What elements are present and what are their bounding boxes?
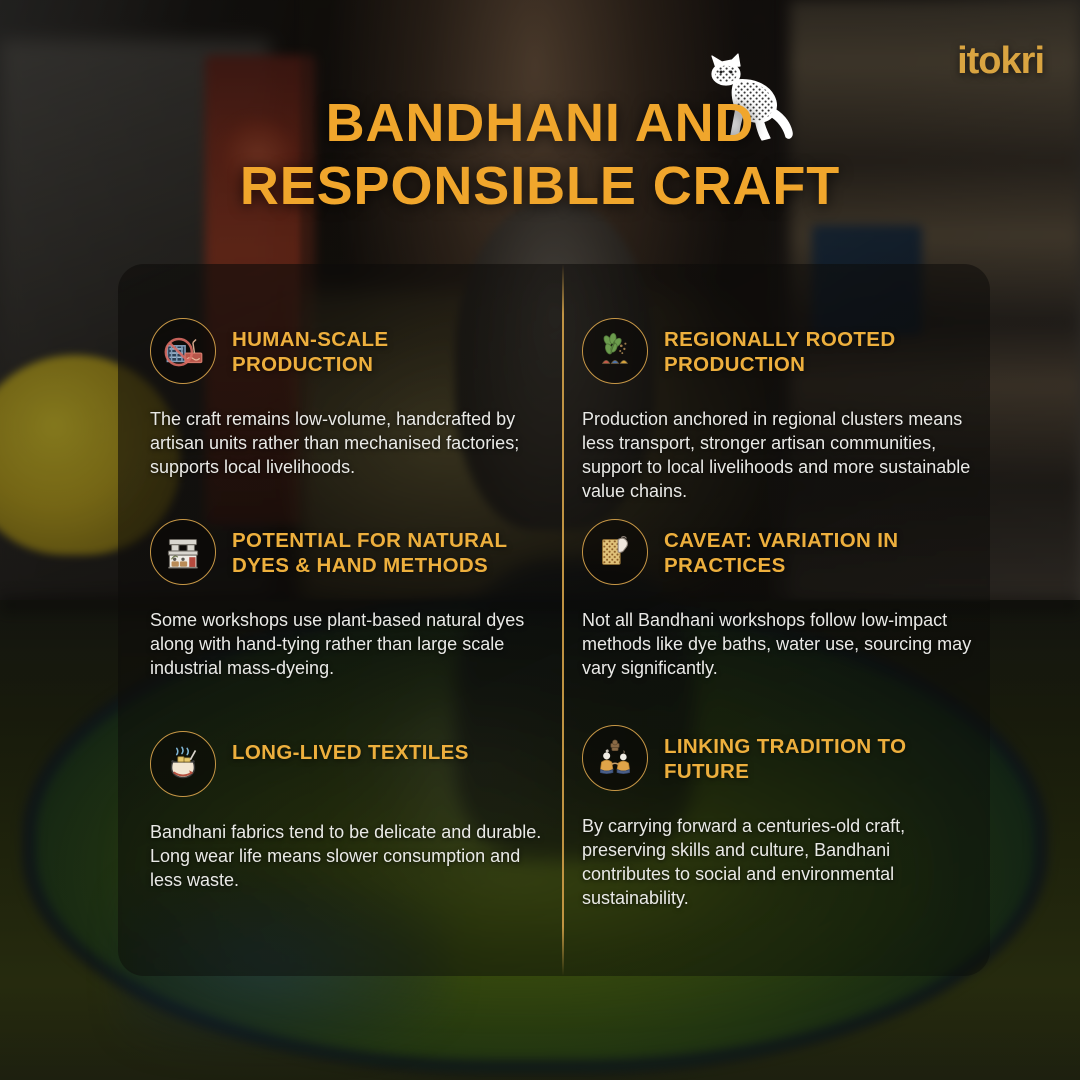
- workshop-building-icon: [150, 519, 216, 585]
- page-title-line-1: BANDHANI AND: [326, 93, 755, 153]
- feature-title: LINKING TRADITION TO FUTURE: [664, 725, 982, 784]
- steaming-dye-pot-icon: [150, 731, 216, 797]
- feature-title: CAVEAT: VARIATION IN PRACTICES: [664, 519, 982, 578]
- feature-body: By carrying forward a centuries-old craf…: [582, 815, 974, 911]
- column-divider: [562, 264, 564, 976]
- page-title-line-2: RESPONSIBLE CRAFT: [0, 155, 1080, 218]
- page-title: BANDHANI AND RESPONSIBLE CRAFT: [0, 92, 1080, 218]
- feature-title: POTENTIAL FOR NATURAL DYES & HAND METHOD…: [232, 519, 532, 578]
- feature-item-linking-tradition-to-future: LINKING TRADITION TO FUTURE By carrying …: [582, 725, 982, 911]
- feature-header: REGIONALLY ROOTED PRODUCTION: [582, 318, 982, 384]
- infographic-poster: itokri: [0, 0, 1080, 1080]
- itokri-logo[interactable]: itokri: [957, 42, 1044, 80]
- feature-item-long-lived-textiles: LONG-LIVED TEXTILES Bandhani fabrics ten…: [150, 731, 550, 893]
- feature-title: REGIONALLY ROOTED PRODUCTION: [664, 318, 982, 377]
- feature-body: Some workshops use plant-based natural d…: [150, 609, 542, 681]
- feature-header: CAVEAT: VARIATION IN PRACTICES: [582, 519, 982, 585]
- plants-and-dye-powders-icon: [582, 318, 648, 384]
- feature-header: POTENTIAL FOR NATURAL DYES & HAND METHOD…: [150, 519, 550, 585]
- no-factory-icon: [150, 318, 216, 384]
- feature-item-caveat-variation: CAVEAT: VARIATION IN PRACTICES Not all B…: [582, 519, 982, 681]
- feature-body: The craft remains low-volume, handcrafte…: [150, 408, 542, 480]
- feature-item-natural-dyes: POTENTIAL FOR NATURAL DYES & HAND METHOD…: [150, 519, 550, 681]
- feature-header: LONG-LIVED TEXTILES: [150, 731, 550, 797]
- feature-header: HUMAN-SCALE PRODUCTION: [150, 318, 550, 384]
- feature-body: Not all Bandhani workshops follow low-im…: [582, 609, 974, 681]
- two-artisans-icon: [582, 725, 648, 791]
- feature-body: Bandhani fabrics tend to be delicate and…: [150, 821, 542, 893]
- hand-holding-bandhani-fabric-icon: [582, 519, 648, 585]
- feature-title: HUMAN-SCALE PRODUCTION: [232, 318, 532, 377]
- feature-body: Production anchored in regional clusters…: [582, 408, 974, 504]
- feature-item-regionally-rooted-production: REGIONALLY ROOTED PRODUCTION Production …: [582, 318, 982, 504]
- feature-item-human-scale-production: HUMAN-SCALE PRODUCTION The craft remains…: [150, 318, 550, 480]
- feature-header: LINKING TRADITION TO FUTURE: [582, 725, 982, 791]
- feature-title: LONG-LIVED TEXTILES: [232, 731, 469, 765]
